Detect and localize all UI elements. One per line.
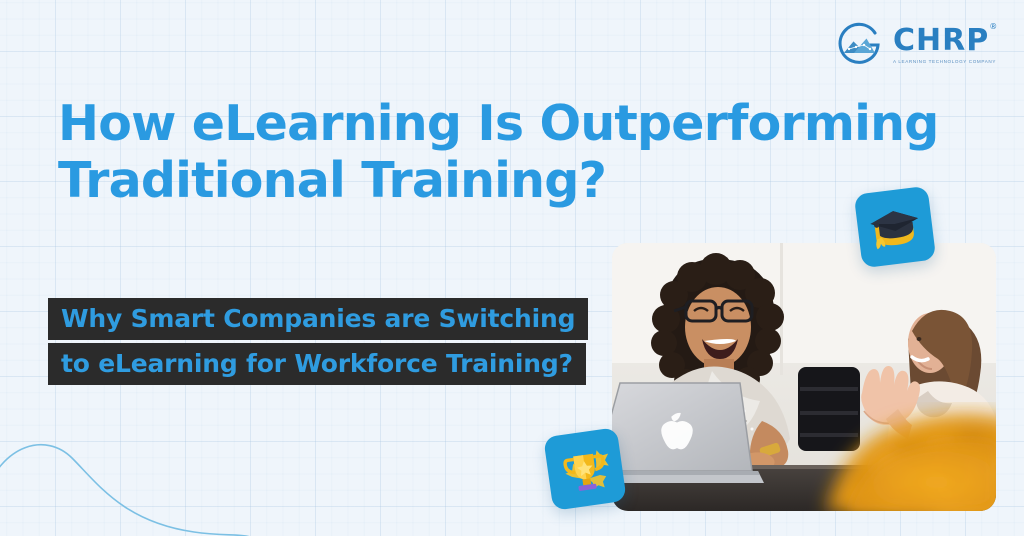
headline-line-1: How eLearning Is Outperforming xyxy=(58,96,928,153)
logo-wordmark: CHRP ® xyxy=(893,26,989,56)
office-training-photo xyxy=(612,243,996,511)
trophy-icon xyxy=(553,437,616,500)
chrp-circle-mountain-logo-icon xyxy=(834,20,884,70)
registered-mark: ® xyxy=(989,23,998,31)
logo-text-block: CHRP ® A LEARNING TECHNOLOGY COMPANY xyxy=(893,26,996,64)
banner-canvas: CHRP ® A LEARNING TECHNOLOGY COMPANY How… xyxy=(0,0,1024,536)
page-title: How eLearning Is Outperforming Tradition… xyxy=(58,96,928,210)
logo-wordmark-text: CHRP xyxy=(893,23,989,58)
logo-tagline: A LEARNING TECHNOLOGY COMPANY xyxy=(893,59,996,64)
sticker-graduation-cap xyxy=(854,186,936,268)
sticker-trophy xyxy=(543,427,627,511)
headline-line-2: Traditional Training? xyxy=(58,153,928,210)
graduation-cap-icon xyxy=(864,196,926,258)
brand-logo[interactable]: CHRP ® A LEARNING TECHNOLOGY COMPANY xyxy=(834,20,996,70)
subtitle-line-2: to eLearning for Workforce Training? xyxy=(48,343,586,385)
subtitle-block: Why Smart Companies are Switching to eLe… xyxy=(48,298,588,385)
curved-line-decoration xyxy=(0,418,324,536)
subtitle-line-1: Why Smart Companies are Switching xyxy=(48,298,588,340)
